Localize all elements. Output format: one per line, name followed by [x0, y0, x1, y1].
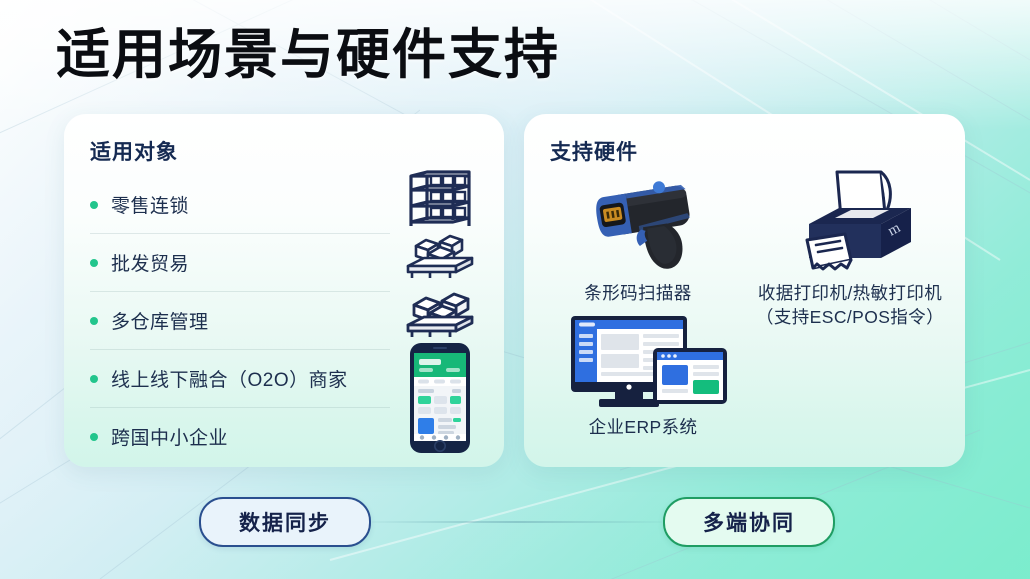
hardware-item-erp[interactable]: 企业ERP系统 [538, 314, 748, 440]
list-item-label: 跨国中小企业 [111, 423, 228, 450]
list-item[interactable]: 多仓库管理 [90, 292, 390, 350]
list-item[interactable]: 线上线下融合（O2O）商家 [90, 350, 390, 408]
bullet-icon [90, 433, 98, 441]
pallet-boxes-icon [390, 284, 490, 341]
hardware-item-printer[interactable]: m 收据打印机/热敏打印机 （支持ESC/POS指令） [742, 166, 958, 329]
list-item[interactable]: 零售连锁 [90, 176, 390, 234]
hardware-label: 条形码扫描器 [538, 282, 738, 306]
supported-hardware-card: 支持硬件 [524, 114, 965, 467]
bullet-icon [90, 317, 98, 325]
hardware-label: 收据打印机/热敏打印机 （支持ESC/POS指令） [742, 282, 958, 329]
list-item-label: 线上线下融合（O2O）商家 [111, 365, 348, 392]
badge-label: 数据同步 [239, 507, 331, 537]
applicable-audience-card: 适用对象 零售连锁 批发贸易 多仓库管理 线上线下融合（O2O）商家 跨国中小企… [64, 114, 504, 467]
right-card-title: 支持硬件 [550, 136, 638, 166]
page-title: 适用场景与硬件支持 [56, 24, 560, 86]
warehouse-shelf-icon [390, 170, 490, 227]
badge-multi-device[interactable]: 多端协同 [663, 497, 835, 547]
smartphone-app-icon [390, 341, 490, 455]
list-item[interactable]: 批发贸易 [90, 234, 390, 292]
list-item-label: 多仓库管理 [111, 307, 209, 334]
hardware-label: 企业ERP系统 [538, 416, 748, 440]
left-card-title: 适用对象 [90, 136, 178, 166]
barcode-scanner-icon [538, 166, 738, 276]
receipt-printer-icon: m [742, 166, 958, 276]
audience-list: 零售连锁 批发贸易 多仓库管理 线上线下融合（O2O）商家 跨国中小企业 [90, 176, 390, 465]
audience-icon-column [390, 170, 490, 455]
slide-root: 适用场景与硬件支持 适用对象 零售连锁 批发贸易 多仓库管理 线上线下融合（O2… [0, 0, 1030, 579]
pill-connector-line [372, 521, 662, 523]
list-item-label: 批发贸易 [111, 249, 189, 276]
hardware-item-scanner[interactable]: 条形码扫描器 [538, 166, 738, 306]
bullet-icon [90, 375, 98, 383]
badge-label: 多端协同 [703, 507, 795, 537]
list-item[interactable]: 跨国中小企业 [90, 408, 390, 465]
bullet-icon [90, 259, 98, 267]
pallet-boxes-icon [390, 227, 490, 284]
desktop-erp-icon [538, 314, 748, 410]
list-item-label: 零售连锁 [111, 191, 189, 218]
badge-data-sync[interactable]: 数据同步 [199, 497, 371, 547]
bullet-icon [90, 201, 98, 209]
